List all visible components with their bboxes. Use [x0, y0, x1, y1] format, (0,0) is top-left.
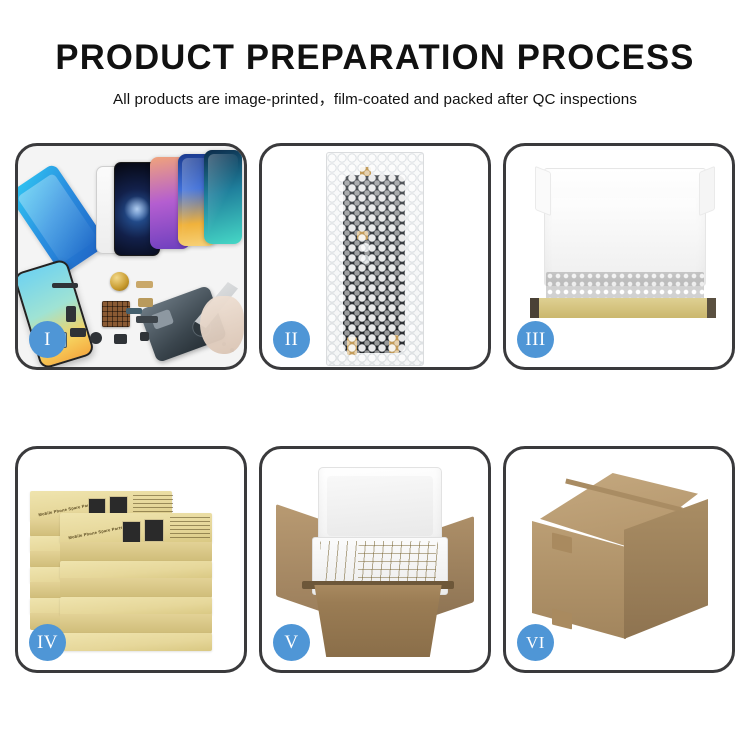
step-badge-2: II: [273, 321, 310, 358]
box-side: [60, 542, 212, 562]
yellow-boxes-inside: [358, 545, 436, 583]
step-badge-3: III: [517, 321, 554, 358]
small-part-gold-chip: [138, 298, 153, 307]
screen-thumbnail: [122, 521, 141, 543]
header: PRODUCT PREPARATION PROCESS All products…: [0, 0, 750, 109]
white-foam-sheet: [552, 198, 696, 274]
process-step-panel-2: II: [259, 143, 491, 370]
process-step-panel-6: VI: [503, 446, 735, 673]
product-preparation-infographic: PRODUCT PREPARATION PROCESS All products…: [0, 0, 750, 750]
box-label-text: Mobile Phone Spare Parts: [68, 525, 123, 540]
step-badge-5: V: [273, 624, 310, 661]
yellow-box-front-edge: [530, 298, 716, 318]
small-part-bracket: [66, 306, 76, 322]
carton-front-panel: [304, 585, 452, 657]
hand: [200, 296, 244, 354]
box-side: [60, 614, 212, 634]
small-part-flex-cable: [136, 316, 158, 323]
step-badge-6: VI: [517, 624, 554, 661]
bubble-wrap-bag: [326, 152, 424, 366]
phone-teal: [204, 150, 242, 244]
screen-thumbnail: [144, 519, 164, 542]
small-part-gold-flex: [136, 281, 153, 288]
bubble-wrap-texture-overlay: [327, 153, 423, 365]
small-part-connector: [52, 283, 78, 288]
gold-coil-part: [110, 272, 129, 291]
copper-chip-grid: [102, 301, 130, 327]
step-badge-1: I: [29, 321, 66, 358]
page-title: PRODUCT PREPARATION PROCESS: [4, 40, 747, 75]
box-label-lines: [170, 517, 210, 539]
process-step-grid: I II: [15, 143, 735, 673]
small-part-speaker: [90, 332, 102, 344]
process-step-panel-3: III: [503, 143, 735, 370]
process-step-panel-1: I: [15, 143, 247, 370]
page-subtitle: All products are image-printed，film-coat…: [0, 87, 750, 109]
process-step-panel-4: Mobile Phone Spare Parts: [15, 446, 247, 673]
small-part-module: [70, 328, 86, 337]
small-part-sensor: [126, 308, 142, 314]
process-step-panel-5: V: [259, 446, 491, 673]
step-badge-4: IV: [29, 624, 66, 661]
foam-case-lid: [318, 467, 442, 545]
box-side: [60, 578, 212, 598]
small-part-ic: [140, 332, 149, 341]
box-side: [60, 597, 212, 615]
box-side: [60, 633, 212, 651]
small-part-camera: [114, 334, 127, 344]
box-lid-printed: Mobile Phone Spare Parts: [60, 513, 212, 543]
box-side: [60, 561, 212, 579]
